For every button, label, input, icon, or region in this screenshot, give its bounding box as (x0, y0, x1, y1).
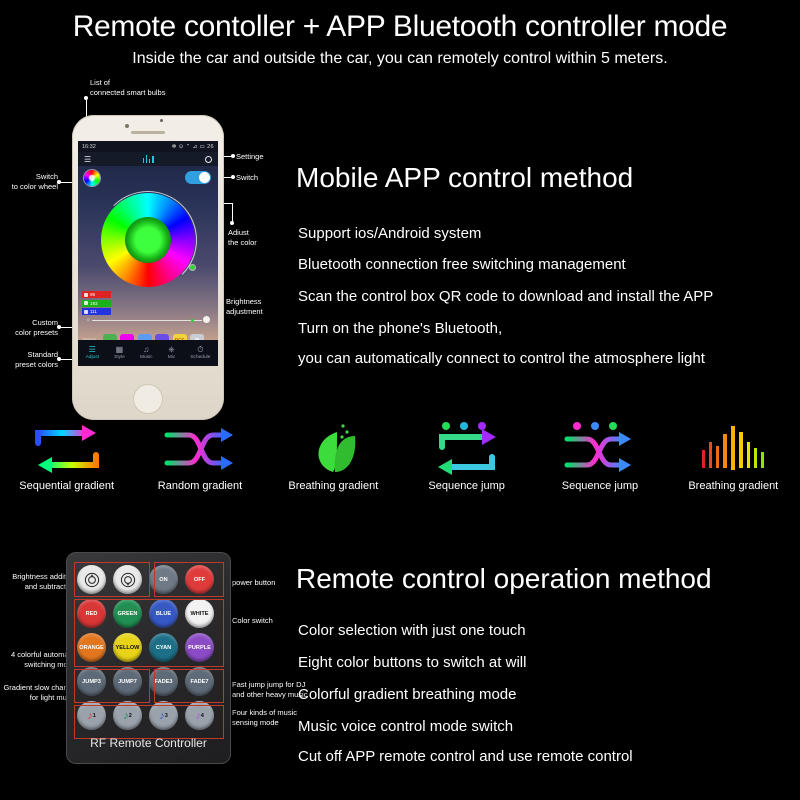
effect-random-gradient: Random gradient (140, 420, 260, 492)
tab-style[interactable]: ▦ Style (114, 346, 125, 361)
rgb-values: 98 193 111 (82, 291, 111, 317)
leaf-icon (273, 420, 393, 478)
phone-sensor-icon (160, 119, 163, 122)
callout-gradient-music: Gradient slow change for light music (0, 683, 76, 703)
callout-remote-brightness: Brightness addition and subtraction (0, 572, 76, 592)
r-swatch-icon (84, 293, 88, 297)
remote-model-name: RF Remote Controller (66, 736, 231, 750)
gear-icon[interactable] (205, 156, 212, 163)
callout-dot-standard (57, 357, 61, 361)
callout-dot-adjust (230, 221, 234, 225)
status-icons: ✻ ⊙ ⌃ ⊿ ▭ 26 (172, 144, 214, 150)
effect-breathing-gradient-bars: Breathing gradient (673, 420, 793, 492)
clock-icon: ⏱ (197, 346, 203, 354)
annotation-box-brightness (74, 562, 150, 597)
color-wheel-toggle-button[interactable] (84, 170, 100, 186)
callout-bulbs-list: List of connected smart bulbs (90, 78, 165, 98)
effect-sequence-jump-loop: Sequence jump (407, 420, 527, 492)
shuffle-arrows-icon (140, 420, 260, 478)
effect-sequential-gradient: Sequential gradient (7, 420, 127, 492)
remote-section-title: Remote control operation method (296, 563, 712, 595)
tab-mic[interactable]: ⎈ Mic (168, 346, 175, 361)
color-wheel-knob[interactable] (190, 265, 195, 270)
effect-sequence-jump-shuffle: Sequence jump (540, 420, 660, 492)
callout-custom-presets: Custom color presets (0, 318, 58, 338)
rgb-row-r: 98 (82, 291, 111, 298)
grid-icon: ▦ (116, 346, 124, 354)
app-top-bar: ☰ (78, 152, 218, 166)
callout-brightness: Brightness adjustment (226, 297, 263, 317)
effect-label: Sequence jump (407, 480, 527, 492)
sliders-icon: ☰ (89, 346, 96, 354)
effects-row: Sequential gradient Random gradient (0, 420, 800, 492)
equalizer-icon[interactable] (143, 155, 154, 163)
callout-fast-jump: Fast jump jump for DJ and other heavy mu… (232, 680, 307, 700)
status-bar: 16:32 ✻ ⊙ ⌃ ⊿ ▭ 26 (78, 141, 218, 152)
page-title: Remote contoller + APP Bluetooth control… (0, 10, 800, 44)
remote-bullet-5: Cut off APP remote control and use remot… (298, 748, 633, 765)
app-bullet-1: Support ios/Android system (298, 225, 481, 242)
remote-bullet-2: Eight color buttons to switch at will (298, 654, 526, 671)
tab-music[interactable]: ♫ Music (140, 346, 153, 361)
app-bullet-4: Turn on the phone's Bluetooth, (298, 320, 502, 337)
r-value: 98 (90, 292, 95, 297)
callout-dot-custom (57, 325, 61, 329)
remote-bullet-3: Colorful gradient breathing mode (298, 686, 516, 703)
annotation-box-power (154, 562, 224, 597)
remote-bullet-1: Color selection with just one touch (298, 622, 526, 639)
callout-auto-switch: 4 colorful automatic switching mode (0, 650, 76, 670)
microphone-icon: ⎈ (168, 346, 174, 354)
rf-remote-controller: ON OFF RED GREEN BLUE WHITE ORANGE YELLO… (66, 552, 231, 764)
effect-label: Sequential gradient (7, 480, 127, 492)
phone-mockup: 16:32 ✻ ⊙ ⌃ ⊿ ▭ 26 ☰ 98 (72, 115, 224, 420)
tab-schedule[interactable]: ⏱ Schedule (190, 346, 210, 361)
list-icon[interactable]: ☰ (84, 155, 91, 164)
tab-style-label: Style (114, 355, 125, 360)
phone-camera-icon (125, 124, 129, 128)
shuffle-arrows-dots-icon (540, 420, 660, 478)
brightness-handle[interactable] (203, 316, 210, 323)
brightness-track[interactable] (92, 320, 202, 321)
callout-standard-presets: Standard preset colors (0, 350, 58, 370)
app-bullet-2: Bluetooth connection free switching mana… (298, 256, 626, 273)
effect-label: Breathing gradient (273, 480, 393, 492)
page-subtitle: Inside the car and outside the car, you … (0, 50, 800, 68)
callout-power-button: power button (232, 578, 275, 588)
annotation-box-fade (154, 669, 224, 703)
power-switch-toggle[interactable] (185, 171, 211, 184)
app-bullet-3: Scan the control box QR code to download… (298, 288, 713, 305)
annotation-box-jump (74, 669, 150, 703)
bottom-tab-bar: ☰ Adjust ▦ Style ♫ Music ⎈ Mic ⏱ Sched (78, 340, 218, 366)
phone-home-button[interactable] (133, 384, 163, 414)
g-value: 193 (90, 301, 98, 306)
effect-label: Random gradient (140, 480, 260, 492)
g-swatch-icon (84, 301, 88, 305)
callout-dot-switch (231, 175, 235, 179)
phone-screen: 16:32 ✻ ⊙ ⌃ ⊿ ▭ 26 ☰ 98 (78, 141, 218, 366)
callout-color-switch: Color switch (232, 616, 273, 626)
loop-arrows-icon (7, 420, 127, 478)
callout-dot-settings (231, 154, 235, 158)
b-swatch-icon (84, 310, 88, 314)
tab-schedule-label: Schedule (190, 355, 210, 360)
brightness-marker (191, 319, 194, 322)
app-section-title: Mobile APP control method (296, 162, 633, 194)
effect-label: Breathing gradient (673, 480, 793, 492)
callout-music-sensing: Four kinds of music sensing mode (232, 708, 297, 728)
rgb-row-g: 193 (82, 300, 111, 307)
effect-breathing-gradient-leaf: Breathing gradient (273, 420, 393, 492)
annotation-box-music (74, 705, 224, 739)
infographic-page: Remote contoller + APP Bluetooth control… (0, 0, 800, 800)
callout-adjust-color: Adiust the color (228, 228, 257, 248)
callout-switch: Switch (236, 173, 258, 183)
tab-adjust-label: Adjust (86, 355, 99, 360)
equalizer-bars-icon (673, 420, 793, 478)
callout-line-adjust-v (232, 203, 233, 223)
remote-bullet-4: Music voice control mode switch (298, 718, 513, 735)
color-wheel-arc (99, 191, 197, 289)
brightness-slider[interactable]: ☼ (86, 317, 210, 323)
tab-music-label: Music (140, 355, 153, 360)
phone-earpiece (131, 131, 165, 134)
callout-dot-wheel (57, 180, 61, 184)
music-note-icon: ♫ (143, 346, 149, 354)
status-time: 16:32 (82, 144, 96, 150)
callout-color-wheel: Switch to color wheel (0, 172, 58, 192)
rgb-row-b: 111 (82, 308, 111, 315)
effect-label: Sequence jump (540, 480, 660, 492)
brightness-low-icon: ☼ (86, 317, 91, 322)
app-bullet-5: you can automatically connect to control… (298, 350, 705, 367)
loop-arrows-dots-icon (407, 420, 527, 478)
annotation-box-colors (74, 599, 224, 667)
b-value: 111 (90, 309, 97, 314)
callout-settings: Settinge (236, 152, 264, 162)
tab-adjust[interactable]: ☰ Adjust (86, 346, 99, 361)
tab-mic-label: Mic (168, 355, 175, 360)
